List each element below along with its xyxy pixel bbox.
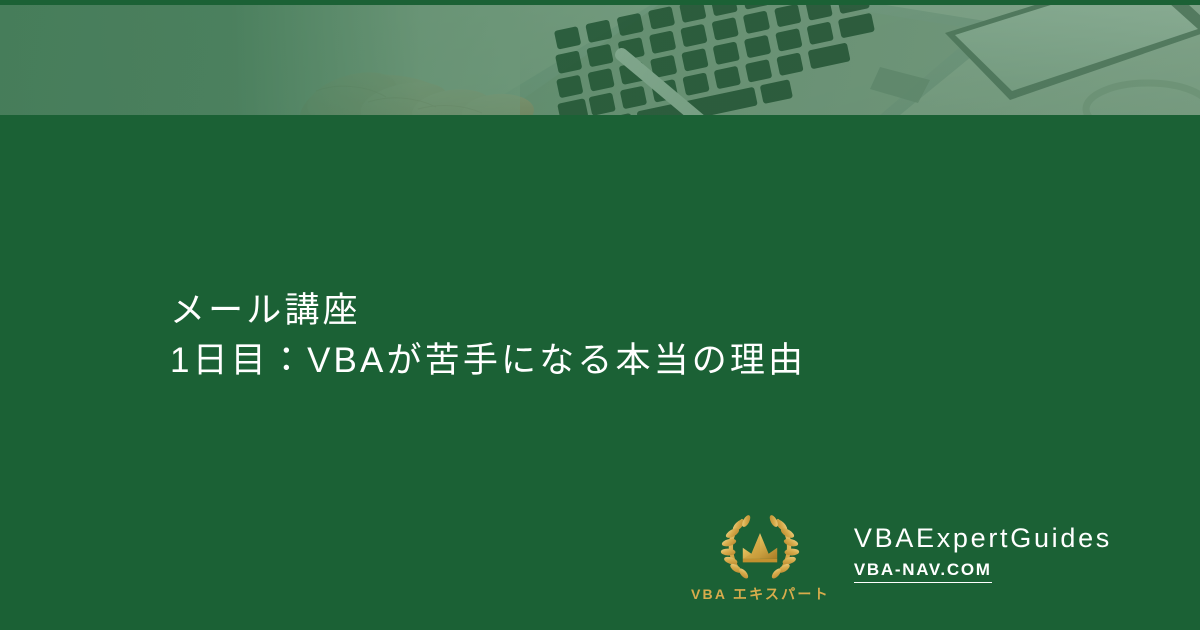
- hero-photo-svg: [0, 5, 1200, 115]
- brand-mark: VBA エキスパート: [693, 509, 828, 604]
- headline-block: メール講座 1日目：VBAが苦手になる本当の理由: [170, 286, 1070, 385]
- brand-mark-label: VBA エキスパート: [691, 584, 830, 604]
- banner-root: メール講座 1日目：VBAが苦手になる本当の理由: [0, 0, 1200, 630]
- crown-shape: [743, 533, 777, 562]
- top-accent-strip: [0, 0, 1200, 5]
- brand-block: VBA エキスパート VBAExpertGuides VBA-NAV.COM: [693, 509, 1112, 604]
- brand-name: VBAExpertGuides: [854, 524, 1112, 554]
- brand-text-block: VBAExpertGuides VBA-NAV.COM: [854, 524, 1112, 589]
- hero-image-band: [0, 5, 1200, 115]
- laurel-wreath-crown-icon: [716, 509, 804, 583]
- headline-line-2: 1日目：VBAが苦手になる本当の理由: [170, 336, 1070, 386]
- brand-url[interactable]: VBA-NAV.COM: [854, 561, 992, 584]
- headline-line-1: メール講座: [170, 286, 1070, 336]
- laptop-keyboard-photo: [0, 5, 1200, 115]
